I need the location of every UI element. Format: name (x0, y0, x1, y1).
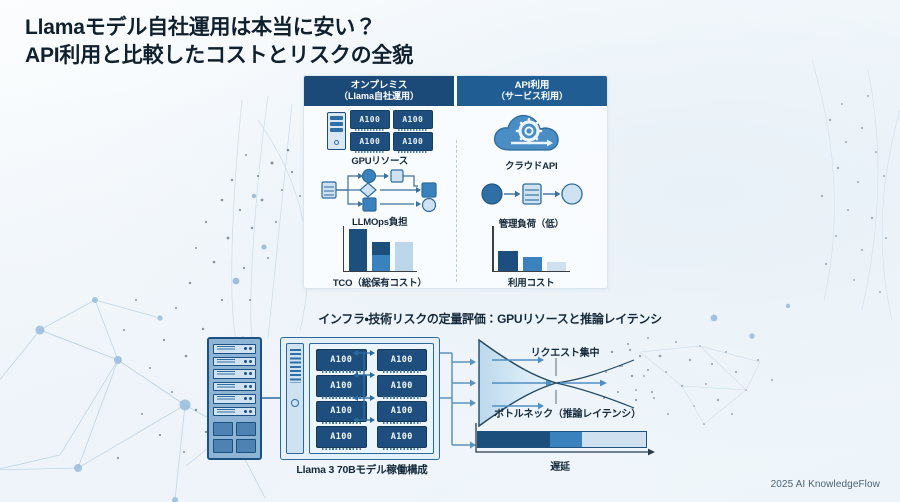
caption-latency: 遅延 (470, 458, 650, 473)
slide-canvas: Llamaモデル自社運用は本当に安い？ API利用と比較したコストとリスクの全貌… (0, 0, 900, 502)
latency-meter (477, 431, 647, 449)
caption-request-concentration: リクエスト集中 (495, 344, 635, 359)
bottom-diagram-connectors (0, 0, 900, 502)
footer-credit: 2025 AI KnowledgeFlow (771, 479, 880, 490)
latency-bar-fill (477, 431, 647, 448)
caption-cluster: Llama 3 70Bモデル稼働構成 (262, 462, 462, 477)
caption-bottleneck: ボトルネック（推論レイテンシ） (480, 405, 655, 420)
